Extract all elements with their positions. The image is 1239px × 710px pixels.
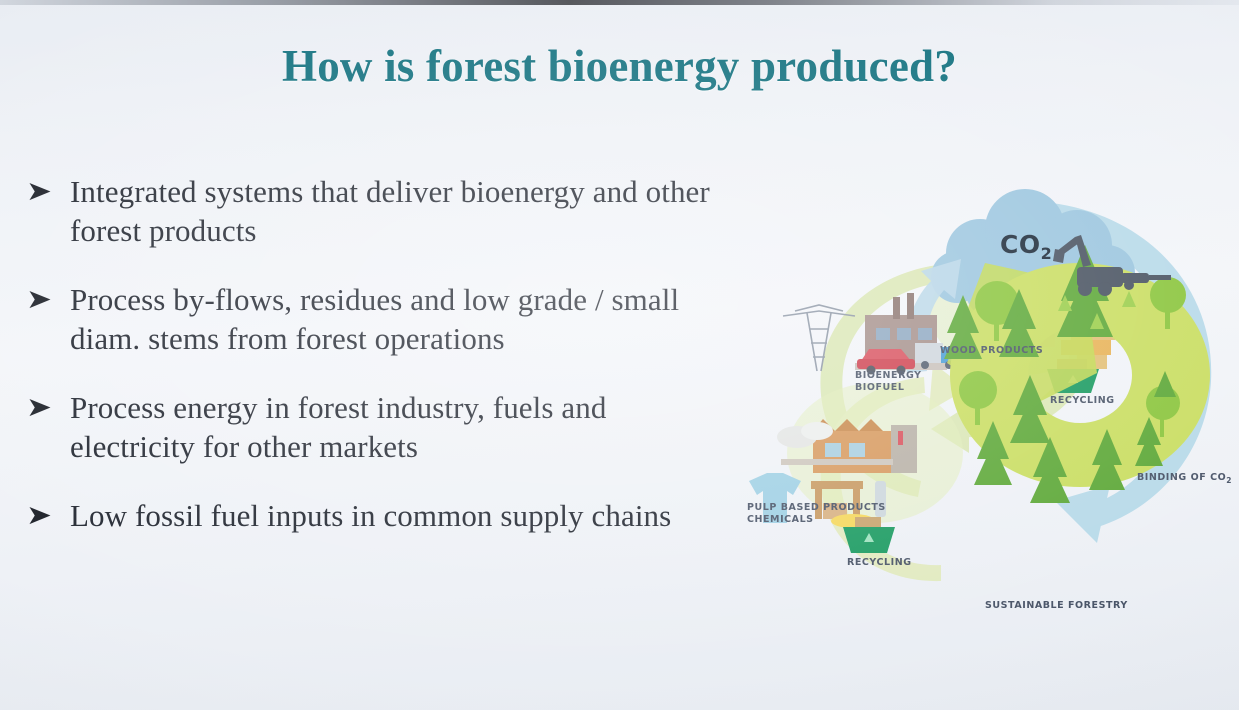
label-pulp-line2: CHEMICALS: [747, 514, 886, 526]
arrowhead-bullet-icon: ➤: [26, 388, 77, 428]
label-bioenergy-line2: BIOFUEL: [855, 382, 922, 394]
label-pulp-line1: PULP BASED PRODUCTS: [747, 502, 886, 514]
label-bioenergy-biofuel: BIOENERGY BIOFUEL: [855, 370, 922, 394]
list-item-text: Process by-flows, residues and low grade…: [70, 280, 726, 358]
list-item-text: Low fossil fuel inputs in common supply …: [70, 496, 726, 535]
label-pulp-based-products: PULP BASED PRODUCTS CHEMICALS: [747, 502, 886, 526]
infographic-svg: [725, 185, 1239, 635]
arrowhead-bullet-icon: ➤: [26, 172, 77, 212]
label-recycling-top: RECYCLING: [1050, 395, 1115, 407]
list-item: ➤ Integrated systems that deliver bioene…: [26, 172, 726, 250]
pulp-mill-icon: [777, 419, 917, 473]
forest-carbon-cycle-infographic: CO2 WOOD PRODUCTS BIOENERGY BIOFUEL RECY…: [725, 185, 1239, 635]
list-item: ➤ Low fossil fuel inputs in common suppl…: [26, 496, 726, 536]
label-bioenergy-line1: BIOENERGY: [855, 370, 922, 382]
bullet-list: ➤ Integrated systems that deliver bioene…: [26, 172, 726, 566]
label-sustainable-forestry: SUSTAINABLE FORESTRY: [985, 600, 1128, 612]
list-item: ➤ Process energy in forest industry, fue…: [26, 388, 726, 466]
label-wood-products: WOOD PRODUCTS: [940, 345, 1043, 357]
slide-canvas: How is forest bioenergy produced? ➤ Inte…: [0, 0, 1239, 710]
list-item: ➤ Process by-flows, residues and low gra…: [26, 280, 726, 358]
list-item-text: Integrated systems that deliver bioenerg…: [70, 172, 726, 250]
slide-top-edge: [0, 0, 1239, 5]
list-item-text: Process energy in forest industry, fuels…: [70, 388, 726, 466]
arrowhead-bullet-icon: ➤: [26, 496, 77, 536]
arrowhead-bullet-icon: ➤: [26, 280, 77, 320]
co2-cloud-label: CO2: [1000, 230, 1052, 263]
page-title: How is forest bioenergy produced?: [0, 40, 1239, 92]
label-binding-of-co2: BINDING OF CO2: [1137, 472, 1232, 487]
label-recycling-bottom: RECYCLING: [847, 557, 912, 569]
